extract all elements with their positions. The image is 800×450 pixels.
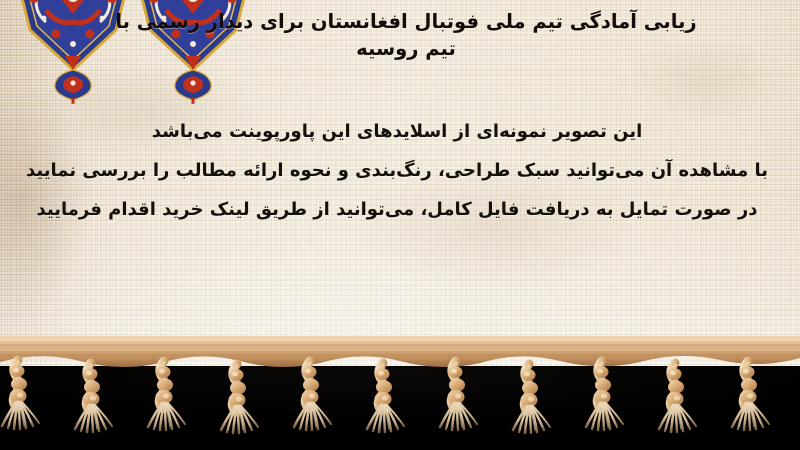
body-line-2: با مشاهده آن می‌توانید سبک طراحی، رنگ‌بن… bbox=[2, 151, 792, 190]
linen-canvas-background: زیابی آمادگی تیم ملی فوتبال افغانستان بر… bbox=[0, 0, 800, 366]
body-line-1: این تصویر نمونه‌ای از اسلایدهای این پاور… bbox=[2, 112, 792, 151]
slide-title-line-1: زیابی آمادگی تیم ملی فوتبال افغانستان بر… bbox=[0, 8, 800, 35]
carpet-fringe-tassels-icon bbox=[0, 336, 800, 450]
slide-canvas: زیابی آمادگی تیم ملی فوتبال افغانستان بر… bbox=[0, 0, 800, 450]
slide-body-text: این تصویر نمونه‌ای از اسلایدهای این پاور… bbox=[2, 112, 792, 229]
body-line-3: در صورت تمایل به دریافت فایل کامل، می‌تو… bbox=[2, 190, 792, 229]
slide-title-line-2: تیم روسیه bbox=[0, 35, 800, 62]
slide-title: زیابی آمادگی تیم ملی فوتبال افغانستان بر… bbox=[0, 8, 800, 62]
